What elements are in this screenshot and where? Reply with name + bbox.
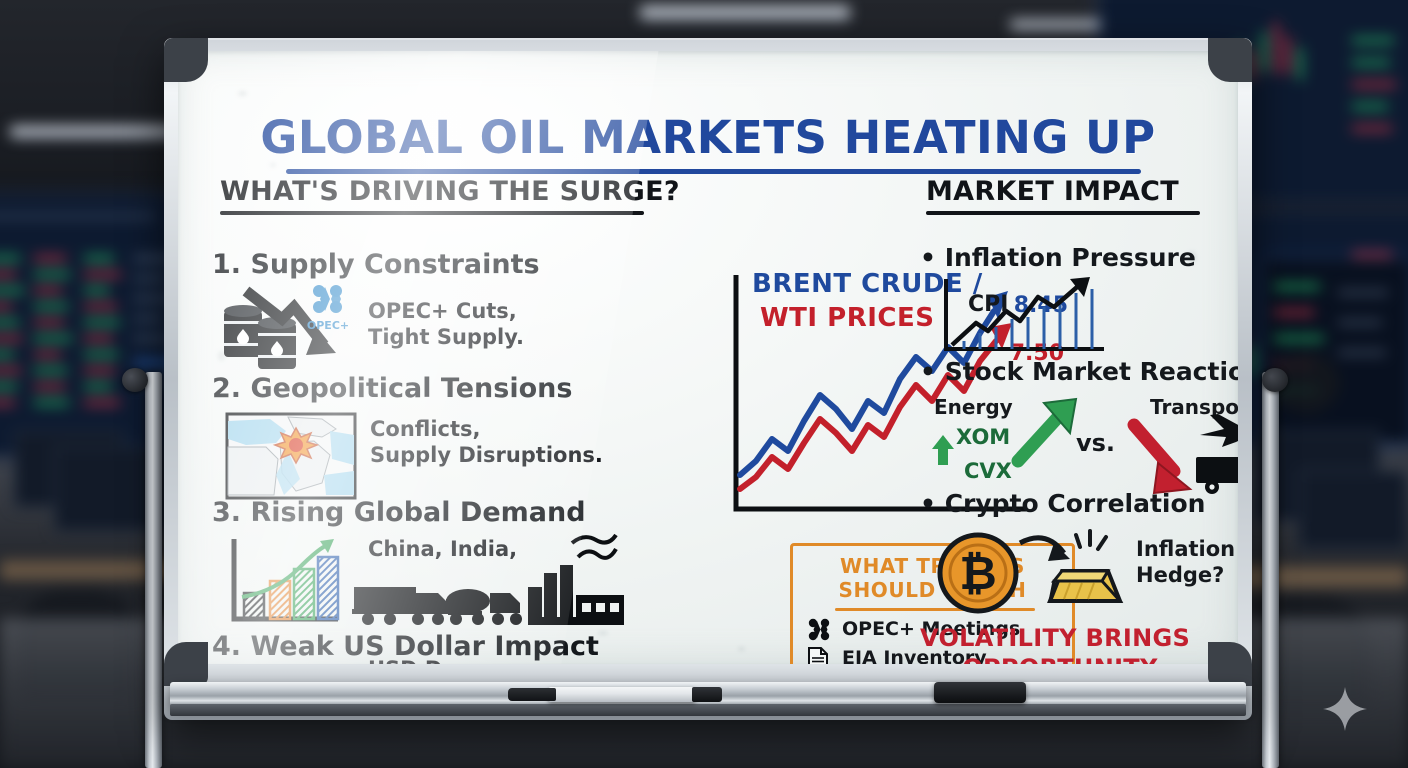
energy-group-label: Energy — [934, 395, 1013, 419]
impact-3-label: • Crypto Correlation — [920, 489, 1205, 518]
airplane-icon — [1196, 413, 1238, 449]
frame-corner-bottom-left — [164, 642, 208, 686]
impact-1-label: • Inflation Pressure — [920, 243, 1196, 272]
impact-2-text: Stock Market Reactions — [945, 357, 1238, 386]
impact-2-label: • Stock Market Reactions — [920, 357, 1238, 386]
left-header-underline — [220, 211, 644, 215]
driver-3-detail: China, India, — [368, 537, 517, 563]
opec-logo-label: OPEC+ — [307, 319, 349, 332]
ticker-screen — [1262, 258, 1408, 443]
whiteboard-stand-leg-left — [145, 372, 162, 768]
right-header-underline — [926, 211, 1200, 215]
whiteboard-surface: GLOBAL OIL MARKETS HEATING UP WHAT'S DRI… — [178, 51, 1238, 664]
frame-corner-top-right — [1208, 38, 1252, 82]
impact-3-text: Crypto Correlation — [945, 489, 1206, 518]
vs-label: vs. — [1076, 429, 1115, 457]
bitcoin-gold-icon: ₿ — [936, 527, 1126, 619]
small-green-up-arrow-icon — [930, 433, 956, 467]
inflation-hedge-note: Inflation Hedge? — [1136, 537, 1235, 588]
driver-3-title: 3. Rising Global Demand — [212, 497, 586, 528]
right-section-header: MARKET IMPACT — [926, 176, 1179, 207]
driver-4-detail: USD Down, Oil Demand Up. — [368, 657, 553, 664]
driver-1-title: 1. Supply Constraints — [212, 249, 540, 280]
page-title: GLOBAL OIL MARKETS HEATING UP — [178, 111, 1238, 164]
factory-icon — [526, 533, 626, 629]
ceiling-light — [640, 6, 850, 20]
impact-1-text: Inflation Pressure — [945, 243, 1196, 272]
whiteboard: GLOBAL OIL MARKETS HEATING UP WHAT'S DRI… — [164, 38, 1252, 720]
ticker-xom: XOM — [956, 425, 1010, 449]
green-up-arrow-icon — [1010, 397, 1086, 467]
whiteboard-scene: GLOBAL OIL MARKETS HEATING UP WHAT'S DRI… — [0, 0, 1408, 768]
bar-chart-up-icon — [224, 535, 344, 631]
driver-2-detail: Conflicts, Supply Disruptions. — [370, 417, 603, 468]
stand-adjust-knob[interactable] — [1262, 368, 1288, 392]
opec-logo-icon: OPEC+ — [306, 283, 354, 335]
oil-barrels-down-arrow-icon — [220, 289, 380, 369]
tanker-train-truck-icon — [350, 569, 540, 631]
driver-2-title: 2. Geopolitical Tensions — [212, 373, 572, 404]
desk-monitor — [1298, 470, 1408, 550]
ticker-cvx: CVX — [964, 459, 1012, 483]
desk-surface — [1230, 566, 1408, 588]
dry-erase-marker[interactable] — [548, 687, 696, 702]
whiteboard-eraser[interactable] — [934, 682, 1026, 703]
stand-adjust-knob[interactable] — [122, 368, 148, 392]
document-icon — [807, 647, 833, 664]
red-down-arrow-icon — [1120, 419, 1200, 495]
closing-line-2: OPPORTUNITY — [920, 653, 1238, 664]
cpi-chart-label: CPI — [968, 292, 1008, 317]
cpi-rising-chart-icon: CPI — [938, 277, 1116, 363]
frame-corner-top-left — [164, 38, 208, 82]
closing-statement: VOLATILITY BRINGS OPPORTUNITY — [920, 623, 1238, 664]
ai-sparkle-watermark — [1322, 686, 1368, 732]
whiteboard-stand-leg-right — [1262, 372, 1279, 768]
title-underline — [286, 169, 1141, 174]
opec-logo-icon — [807, 618, 833, 642]
left-section-header: WHAT'S DRIVING THE SURGE? — [220, 176, 680, 207]
driver-1-detail: OPEC+ Cuts, Tight Supply. — [368, 299, 524, 350]
chart-title-line2: WTI PRICES — [760, 303, 934, 333]
middle-east-map-explosion-icon — [226, 413, 356, 499]
ceiling-light — [10, 126, 180, 138]
dollar-down-arrow-icon: $ — [226, 663, 356, 664]
marker-tray-lip — [170, 704, 1246, 716]
closing-line-1: VOLATILITY BRINGS — [920, 623, 1238, 653]
bitcoin-symbol: ₿ — [959, 546, 997, 600]
frame-corner-bottom-right — [1208, 642, 1252, 686]
